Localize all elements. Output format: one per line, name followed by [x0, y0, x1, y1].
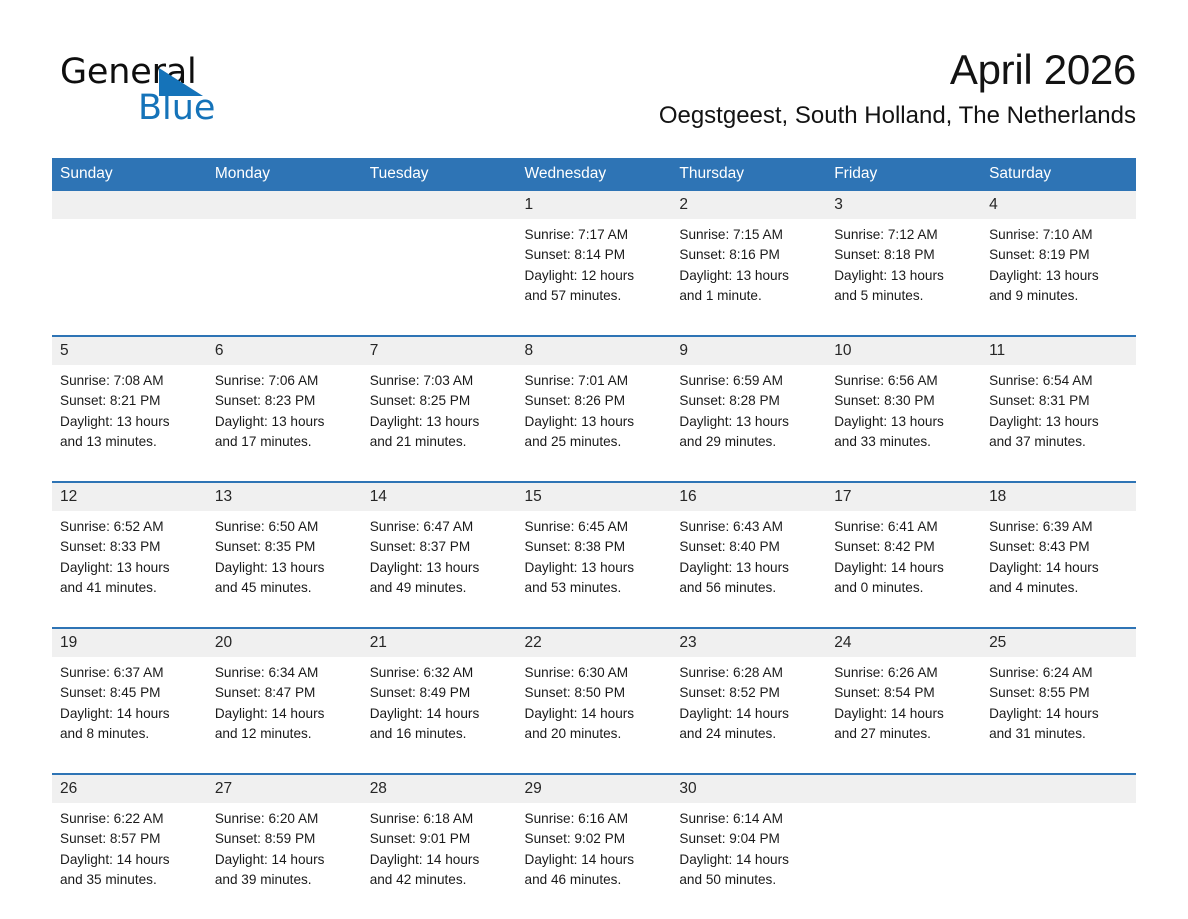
- day-number: [52, 191, 207, 219]
- daylight-text-line2: and 57 minutes.: [525, 286, 664, 306]
- weekday-header-friday: Friday: [826, 158, 981, 191]
- sunrise-text: Sunrise: 7:15 AM: [679, 225, 818, 245]
- day-number: 16: [671, 483, 826, 511]
- day-number: 14: [362, 483, 517, 511]
- daylight-text-line2: and 20 minutes.: [525, 724, 664, 744]
- weekday-header-wednesday: Wednesday: [517, 158, 672, 191]
- calendar-day-cell[interactable]: 12Sunrise: 6:52 AMSunset: 8:33 PMDayligh…: [52, 482, 207, 628]
- sunrise-text: Sunrise: 6:37 AM: [60, 663, 199, 683]
- sunrise-text: Sunrise: 6:28 AM: [679, 663, 818, 683]
- daylight-text-line1: Daylight: 12 hours: [525, 266, 664, 286]
- calendar-day-cell-empty: [52, 191, 207, 336]
- daylight-text-line1: Daylight: 13 hours: [60, 412, 199, 432]
- daylight-text-line1: Daylight: 14 hours: [834, 704, 973, 724]
- daylight-text-line1: Daylight: 14 hours: [215, 850, 354, 870]
- sunset-text: Sunset: 8:33 PM: [60, 537, 199, 557]
- daylight-text-line1: Daylight: 14 hours: [679, 704, 818, 724]
- daylight-text-line1: Daylight: 13 hours: [834, 266, 973, 286]
- daylight-text-line1: Daylight: 13 hours: [60, 558, 199, 578]
- day-details: Sunrise: 6:52 AMSunset: 8:33 PMDaylight:…: [52, 511, 207, 627]
- sunrise-text: Sunrise: 6:52 AM: [60, 517, 199, 537]
- day-details: Sunrise: 6:37 AMSunset: 8:45 PMDaylight:…: [52, 657, 207, 773]
- day-number: 17: [826, 483, 981, 511]
- page-title: April 2026: [316, 44, 1136, 96]
- day-number: 2: [671, 191, 826, 219]
- calendar-day-cell[interactable]: 1Sunrise: 7:17 AMSunset: 8:14 PMDaylight…: [517, 191, 672, 336]
- calendar-week-row: 5Sunrise: 7:08 AMSunset: 8:21 PMDaylight…: [52, 336, 1136, 482]
- daylight-text-line1: Daylight: 14 hours: [525, 704, 664, 724]
- day-number: 25: [981, 629, 1136, 657]
- daylight-text-line1: Daylight: 13 hours: [989, 266, 1128, 286]
- day-number: 23: [671, 629, 826, 657]
- day-details: Sunrise: 6:54 AMSunset: 8:31 PMDaylight:…: [981, 365, 1136, 481]
- sunset-text: Sunset: 8:49 PM: [370, 683, 509, 703]
- calendar-day-cell[interactable]: 19Sunrise: 6:37 AMSunset: 8:45 PMDayligh…: [52, 628, 207, 774]
- calendar-day-cell[interactable]: 26Sunrise: 6:22 AMSunset: 8:57 PMDayligh…: [52, 774, 207, 919]
- sunrise-text: Sunrise: 6:18 AM: [370, 809, 509, 829]
- daylight-text-line2: and 1 minute.: [679, 286, 818, 306]
- calendar-day-cell[interactable]: 7Sunrise: 7:03 AMSunset: 8:25 PMDaylight…: [362, 336, 517, 482]
- sunset-text: Sunset: 8:47 PM: [215, 683, 354, 703]
- sunrise-text: Sunrise: 6:30 AM: [525, 663, 664, 683]
- sunrise-text: Sunrise: 6:41 AM: [834, 517, 973, 537]
- day-details: Sunrise: 6:59 AMSunset: 8:28 PMDaylight:…: [671, 365, 826, 481]
- day-number: 21: [362, 629, 517, 657]
- day-details: Sunrise: 6:24 AMSunset: 8:55 PMDaylight:…: [981, 657, 1136, 773]
- day-number: 27: [207, 775, 362, 803]
- day-number: 18: [981, 483, 1136, 511]
- calendar-table: Sunday Monday Tuesday Wednesday Thursday…: [52, 158, 1136, 919]
- title-block: April 2026 Oegstgeest, South Holland, Th…: [316, 44, 1136, 131]
- sunrise-text: Sunrise: 7:01 AM: [525, 371, 664, 391]
- calendar-day-cell[interactable]: 22Sunrise: 6:30 AMSunset: 8:50 PMDayligh…: [517, 628, 672, 774]
- sunset-text: Sunset: 9:01 PM: [370, 829, 509, 849]
- day-number: 13: [207, 483, 362, 511]
- sunset-text: Sunset: 8:40 PM: [679, 537, 818, 557]
- sunset-text: Sunset: 9:04 PM: [679, 829, 818, 849]
- daylight-text-line2: and 4 minutes.: [989, 578, 1128, 598]
- sunrise-text: Sunrise: 7:17 AM: [525, 225, 664, 245]
- sunset-text: Sunset: 8:30 PM: [834, 391, 973, 411]
- calendar-day-cell[interactable]: 10Sunrise: 6:56 AMSunset: 8:30 PMDayligh…: [826, 336, 981, 482]
- sunset-text: Sunset: 8:26 PM: [525, 391, 664, 411]
- daylight-text-line2: and 25 minutes.: [525, 432, 664, 452]
- day-details: Sunrise: 7:10 AMSunset: 8:19 PMDaylight:…: [981, 219, 1136, 335]
- daylight-text-line2: and 8 minutes.: [60, 724, 199, 744]
- daylight-text-line2: and 42 minutes.: [370, 870, 509, 890]
- day-details: [207, 219, 362, 335]
- calendar-day-cell[interactable]: 16Sunrise: 6:43 AMSunset: 8:40 PMDayligh…: [671, 482, 826, 628]
- calendar-day-cell[interactable]: 23Sunrise: 6:28 AMSunset: 8:52 PMDayligh…: [671, 628, 826, 774]
- daylight-text-line2: and 9 minutes.: [989, 286, 1128, 306]
- day-details: Sunrise: 7:06 AMSunset: 8:23 PMDaylight:…: [207, 365, 362, 481]
- calendar-day-cell-empty: [362, 191, 517, 336]
- day-number: 22: [517, 629, 672, 657]
- daylight-text-line1: Daylight: 13 hours: [679, 266, 818, 286]
- daylight-text-line1: Daylight: 14 hours: [679, 850, 818, 870]
- day-number: 7: [362, 337, 517, 365]
- day-number: 4: [981, 191, 1136, 219]
- calendar-day-cell[interactable]: 25Sunrise: 6:24 AMSunset: 8:55 PMDayligh…: [981, 628, 1136, 774]
- day-details: Sunrise: 7:15 AMSunset: 8:16 PMDaylight:…: [671, 219, 826, 335]
- daylight-text-line2: and 37 minutes.: [989, 432, 1128, 452]
- daylight-text-line2: and 29 minutes.: [679, 432, 818, 452]
- day-details: Sunrise: 6:26 AMSunset: 8:54 PMDaylight:…: [826, 657, 981, 773]
- sunrise-text: Sunrise: 6:24 AM: [989, 663, 1128, 683]
- calendar-day-cell[interactable]: 30Sunrise: 6:14 AMSunset: 9:04 PMDayligh…: [671, 774, 826, 919]
- daylight-text-line2: and 31 minutes.: [989, 724, 1128, 744]
- sunrise-text: Sunrise: 6:45 AM: [525, 517, 664, 537]
- day-details: [981, 803, 1136, 919]
- daylight-text-line2: and 17 minutes.: [215, 432, 354, 452]
- calendar-day-cell[interactable]: 18Sunrise: 6:39 AMSunset: 8:43 PMDayligh…: [981, 482, 1136, 628]
- day-details: Sunrise: 6:22 AMSunset: 8:57 PMDaylight:…: [52, 803, 207, 919]
- day-details: Sunrise: 7:12 AMSunset: 8:18 PMDaylight:…: [826, 219, 981, 335]
- calendar-day-cell[interactable]: 14Sunrise: 6:47 AMSunset: 8:37 PMDayligh…: [362, 482, 517, 628]
- daylight-text-line2: and 50 minutes.: [679, 870, 818, 890]
- day-details: Sunrise: 6:34 AMSunset: 8:47 PMDaylight:…: [207, 657, 362, 773]
- day-details: Sunrise: 6:20 AMSunset: 8:59 PMDaylight:…: [207, 803, 362, 919]
- sunrise-text: Sunrise: 6:16 AM: [525, 809, 664, 829]
- sunrise-text: Sunrise: 7:03 AM: [370, 371, 509, 391]
- sunset-text: Sunset: 8:42 PM: [834, 537, 973, 557]
- day-number: 29: [517, 775, 672, 803]
- day-number: [362, 191, 517, 219]
- daylight-text-line1: Daylight: 14 hours: [370, 704, 509, 724]
- daylight-text-line1: Daylight: 13 hours: [989, 412, 1128, 432]
- daylight-text-line2: and 41 minutes.: [60, 578, 199, 598]
- calendar-week-row: 12Sunrise: 6:52 AMSunset: 8:33 PMDayligh…: [52, 482, 1136, 628]
- sunrise-text: Sunrise: 6:26 AM: [834, 663, 973, 683]
- page-subtitle: Oegstgeest, South Holland, The Netherlan…: [316, 101, 1136, 131]
- daylight-text-line2: and 46 minutes.: [525, 870, 664, 890]
- sunrise-text: Sunrise: 6:47 AM: [370, 517, 509, 537]
- weekday-header-monday: Monday: [207, 158, 362, 191]
- daylight-text-line2: and 24 minutes.: [679, 724, 818, 744]
- day-number: 20: [207, 629, 362, 657]
- day-details: Sunrise: 6:41 AMSunset: 8:42 PMDaylight:…: [826, 511, 981, 627]
- sunrise-text: Sunrise: 6:59 AM: [679, 371, 818, 391]
- day-details: [826, 803, 981, 919]
- sunset-text: Sunset: 8:19 PM: [989, 245, 1128, 265]
- sunset-text: Sunset: 8:18 PM: [834, 245, 973, 265]
- calendar-day-cell[interactable]: 4Sunrise: 7:10 AMSunset: 8:19 PMDaylight…: [981, 191, 1136, 336]
- day-details: [52, 219, 207, 335]
- sunrise-text: Sunrise: 7:12 AM: [834, 225, 973, 245]
- day-number: 3: [826, 191, 981, 219]
- daylight-text-line1: Daylight: 14 hours: [60, 850, 199, 870]
- sunrise-text: Sunrise: 7:06 AM: [215, 371, 354, 391]
- daylight-text-line1: Daylight: 14 hours: [525, 850, 664, 870]
- daylight-text-line1: Daylight: 13 hours: [215, 558, 354, 578]
- weekday-header-sunday: Sunday: [52, 158, 207, 191]
- day-number: 9: [671, 337, 826, 365]
- sunrise-text: Sunrise: 6:34 AM: [215, 663, 354, 683]
- daylight-text-line1: Daylight: 13 hours: [679, 558, 818, 578]
- sunrise-text: Sunrise: 6:14 AM: [679, 809, 818, 829]
- daylight-text-line1: Daylight: 14 hours: [989, 704, 1128, 724]
- day-details: Sunrise: 6:47 AMSunset: 8:37 PMDaylight:…: [362, 511, 517, 627]
- daylight-text-line1: Daylight: 13 hours: [525, 558, 664, 578]
- day-number: 12: [52, 483, 207, 511]
- day-details: Sunrise: 6:56 AMSunset: 8:30 PMDaylight:…: [826, 365, 981, 481]
- sunrise-text: Sunrise: 6:50 AM: [215, 517, 354, 537]
- day-number: 30: [671, 775, 826, 803]
- daylight-text-line1: Daylight: 14 hours: [60, 704, 199, 724]
- daylight-text-line2: and 35 minutes.: [60, 870, 199, 890]
- daylight-text-line2: and 27 minutes.: [834, 724, 973, 744]
- logo-generalblue[interactable]: General Blue: [60, 52, 320, 132]
- calendar-day-cell[interactable]: 29Sunrise: 6:16 AMSunset: 9:02 PMDayligh…: [517, 774, 672, 919]
- day-details: Sunrise: 6:43 AMSunset: 8:40 PMDaylight:…: [671, 511, 826, 627]
- daylight-text-line1: Daylight: 13 hours: [679, 412, 818, 432]
- day-number: 5: [52, 337, 207, 365]
- calendar-day-cell[interactable]: 5Sunrise: 7:08 AMSunset: 8:21 PMDaylight…: [52, 336, 207, 482]
- daylight-text-line2: and 21 minutes.: [370, 432, 509, 452]
- sunset-text: Sunset: 8:55 PM: [989, 683, 1128, 703]
- daylight-text-line1: Daylight: 13 hours: [370, 412, 509, 432]
- calendar-day-cell[interactable]: 17Sunrise: 6:41 AMSunset: 8:42 PMDayligh…: [826, 482, 981, 628]
- calendar-day-cell[interactable]: 8Sunrise: 7:01 AMSunset: 8:26 PMDaylight…: [517, 336, 672, 482]
- sunrise-text: Sunrise: 6:20 AM: [215, 809, 354, 829]
- daylight-text-line2: and 33 minutes.: [834, 432, 973, 452]
- calendar-day-cell[interactable]: 24Sunrise: 6:26 AMSunset: 8:54 PMDayligh…: [826, 628, 981, 774]
- sunrise-text: Sunrise: 6:54 AM: [989, 371, 1128, 391]
- weekday-header-thursday: Thursday: [671, 158, 826, 191]
- day-details: Sunrise: 6:32 AMSunset: 8:49 PMDaylight:…: [362, 657, 517, 773]
- day-number: 10: [826, 337, 981, 365]
- daylight-text-line2: and 0 minutes.: [834, 578, 973, 598]
- calendar-week-row: 1Sunrise: 7:17 AMSunset: 8:14 PMDaylight…: [52, 191, 1136, 336]
- sunset-text: Sunset: 8:59 PM: [215, 829, 354, 849]
- day-number: 8: [517, 337, 672, 365]
- sunrise-text: Sunrise: 6:39 AM: [989, 517, 1128, 537]
- day-details: Sunrise: 7:08 AMSunset: 8:21 PMDaylight:…: [52, 365, 207, 481]
- daylight-text-line1: Daylight: 14 hours: [370, 850, 509, 870]
- day-number: 6: [207, 337, 362, 365]
- daylight-text-line2: and 12 minutes.: [215, 724, 354, 744]
- sunset-text: Sunset: 8:16 PM: [679, 245, 818, 265]
- daylight-text-line2: and 39 minutes.: [215, 870, 354, 890]
- sunset-text: Sunset: 8:28 PM: [679, 391, 818, 411]
- day-details: Sunrise: 7:17 AMSunset: 8:14 PMDaylight:…: [517, 219, 672, 335]
- day-details: Sunrise: 6:45 AMSunset: 8:38 PMDaylight:…: [517, 511, 672, 627]
- calendar-day-cell[interactable]: 15Sunrise: 6:45 AMSunset: 8:38 PMDayligh…: [517, 482, 672, 628]
- day-details: Sunrise: 7:03 AMSunset: 8:25 PMDaylight:…: [362, 365, 517, 481]
- calendar-day-cell[interactable]: 20Sunrise: 6:34 AMSunset: 8:47 PMDayligh…: [207, 628, 362, 774]
- calendar-day-cell-empty: [981, 774, 1136, 919]
- day-number: 19: [52, 629, 207, 657]
- sunset-text: Sunset: 8:52 PM: [679, 683, 818, 703]
- day-details: Sunrise: 6:39 AMSunset: 8:43 PMDaylight:…: [981, 511, 1136, 627]
- calendar-day-cell[interactable]: 2Sunrise: 7:15 AMSunset: 8:16 PMDaylight…: [671, 191, 826, 336]
- calendar-day-cell[interactable]: 9Sunrise: 6:59 AMSunset: 8:28 PMDaylight…: [671, 336, 826, 482]
- daylight-text-line1: Daylight: 14 hours: [215, 704, 354, 724]
- day-details: Sunrise: 7:01 AMSunset: 8:26 PMDaylight:…: [517, 365, 672, 481]
- weekday-header-saturday: Saturday: [981, 158, 1136, 191]
- daylight-text-line2: and 56 minutes.: [679, 578, 818, 598]
- calendar-day-cell[interactable]: 28Sunrise: 6:18 AMSunset: 9:01 PMDayligh…: [362, 774, 517, 919]
- daylight-text-line1: Daylight: 14 hours: [989, 558, 1128, 578]
- day-details: Sunrise: 6:28 AMSunset: 8:52 PMDaylight:…: [671, 657, 826, 773]
- calendar-day-cell[interactable]: 21Sunrise: 6:32 AMSunset: 8:49 PMDayligh…: [362, 628, 517, 774]
- day-number: [207, 191, 362, 219]
- calendar-day-cell-empty: [826, 774, 981, 919]
- logo-text-blue: Blue: [138, 88, 215, 128]
- weekday-header-tuesday: Tuesday: [362, 158, 517, 191]
- daylight-text-line2: and 53 minutes.: [525, 578, 664, 598]
- calendar-day-cell[interactable]: 3Sunrise: 7:12 AMSunset: 8:18 PMDaylight…: [826, 191, 981, 336]
- sunset-text: Sunset: 8:31 PM: [989, 391, 1128, 411]
- calendar-week-row: 19Sunrise: 6:37 AMSunset: 8:45 PMDayligh…: [52, 628, 1136, 774]
- sunset-text: Sunset: 8:35 PM: [215, 537, 354, 557]
- day-number: 26: [52, 775, 207, 803]
- sunset-text: Sunset: 8:57 PM: [60, 829, 199, 849]
- sunrise-text: Sunrise: 7:08 AM: [60, 371, 199, 391]
- day-details: Sunrise: 6:50 AMSunset: 8:35 PMDaylight:…: [207, 511, 362, 627]
- daylight-text-line1: Daylight: 13 hours: [370, 558, 509, 578]
- sunset-text: Sunset: 8:38 PM: [525, 537, 664, 557]
- sunset-text: Sunset: 8:23 PM: [215, 391, 354, 411]
- daylight-text-line2: and 49 minutes.: [370, 578, 509, 598]
- sunset-text: Sunset: 8:37 PM: [370, 537, 509, 557]
- sunrise-text: Sunrise: 6:32 AM: [370, 663, 509, 683]
- sunrise-text: Sunrise: 6:43 AM: [679, 517, 818, 537]
- sunrise-text: Sunrise: 6:56 AM: [834, 371, 973, 391]
- sunrise-text: Sunrise: 6:22 AM: [60, 809, 199, 829]
- sunset-text: Sunset: 8:50 PM: [525, 683, 664, 703]
- day-number: 24: [826, 629, 981, 657]
- sunset-text: Sunset: 9:02 PM: [525, 829, 664, 849]
- daylight-text-line2: and 13 minutes.: [60, 432, 199, 452]
- daylight-text-line1: Daylight: 14 hours: [834, 558, 973, 578]
- day-number: [826, 775, 981, 803]
- sunset-text: Sunset: 8:54 PM: [834, 683, 973, 703]
- calendar-header-row: Sunday Monday Tuesday Wednesday Thursday…: [52, 158, 1136, 191]
- sunset-text: Sunset: 8:21 PM: [60, 391, 199, 411]
- calendar-day-cell[interactable]: 11Sunrise: 6:54 AMSunset: 8:31 PMDayligh…: [981, 336, 1136, 482]
- daylight-text-line1: Daylight: 13 hours: [215, 412, 354, 432]
- day-number: 11: [981, 337, 1136, 365]
- calendar-day-cell[interactable]: 27Sunrise: 6:20 AMSunset: 8:59 PMDayligh…: [207, 774, 362, 919]
- calendar-day-cell[interactable]: 13Sunrise: 6:50 AMSunset: 8:35 PMDayligh…: [207, 482, 362, 628]
- daylight-text-line2: and 45 minutes.: [215, 578, 354, 598]
- daylight-text-line2: and 16 minutes.: [370, 724, 509, 744]
- page-header: General Blue April 2026 Oegstgeest, Sout…: [52, 44, 1136, 148]
- day-number: [981, 775, 1136, 803]
- day-details: [362, 219, 517, 335]
- calendar-day-cell[interactable]: 6Sunrise: 7:06 AMSunset: 8:23 PMDaylight…: [207, 336, 362, 482]
- sunrise-text: Sunrise: 7:10 AM: [989, 225, 1128, 245]
- day-details: Sunrise: 6:14 AMSunset: 9:04 PMDaylight:…: [671, 803, 826, 919]
- sunset-text: Sunset: 8:14 PM: [525, 245, 664, 265]
- sunset-text: Sunset: 8:25 PM: [370, 391, 509, 411]
- calendar-page: General Blue April 2026 Oegstgeest, Sout…: [0, 0, 1188, 918]
- calendar-body: 1Sunrise: 7:17 AMSunset: 8:14 PMDaylight…: [52, 191, 1136, 919]
- day-details: Sunrise: 6:30 AMSunset: 8:50 PMDaylight:…: [517, 657, 672, 773]
- calendar-week-row: 26Sunrise: 6:22 AMSunset: 8:57 PMDayligh…: [52, 774, 1136, 919]
- daylight-text-line2: and 5 minutes.: [834, 286, 973, 306]
- day-details: Sunrise: 6:16 AMSunset: 9:02 PMDaylight:…: [517, 803, 672, 919]
- day-details: Sunrise: 6:18 AMSunset: 9:01 PMDaylight:…: [362, 803, 517, 919]
- calendar-day-cell-empty: [207, 191, 362, 336]
- day-number: 1: [517, 191, 672, 219]
- sunset-text: Sunset: 8:45 PM: [60, 683, 199, 703]
- sunset-text: Sunset: 8:43 PM: [989, 537, 1128, 557]
- day-number: 15: [517, 483, 672, 511]
- daylight-text-line1: Daylight: 13 hours: [525, 412, 664, 432]
- day-number: 28: [362, 775, 517, 803]
- daylight-text-line1: Daylight: 13 hours: [834, 412, 973, 432]
